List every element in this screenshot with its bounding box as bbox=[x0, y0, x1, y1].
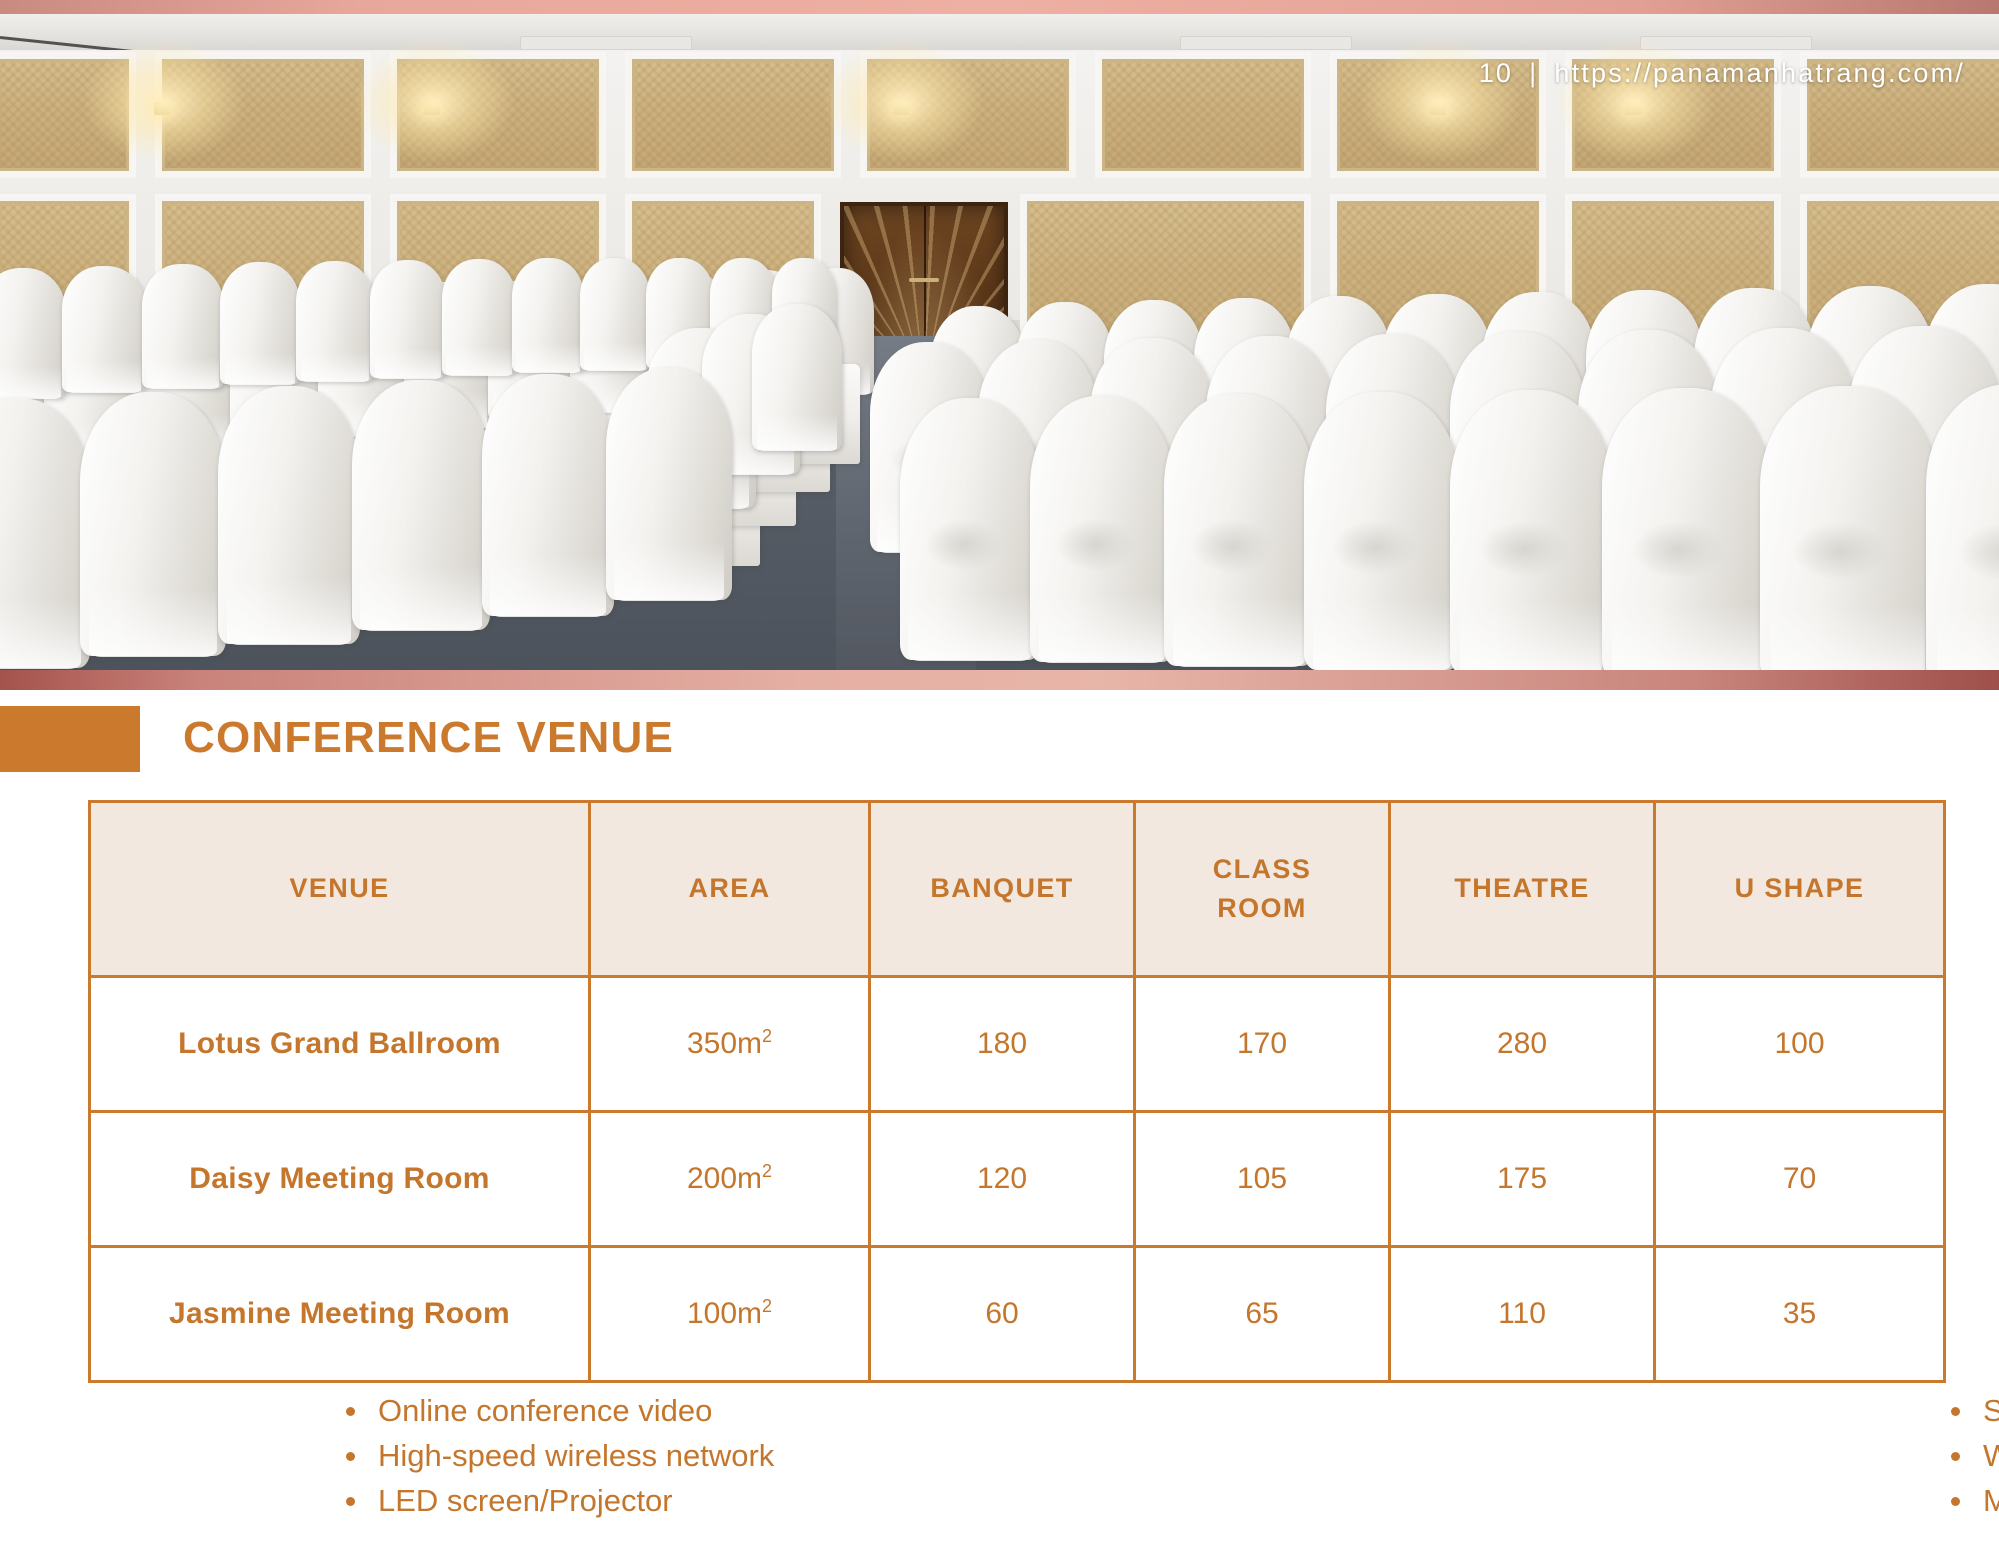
cell-venue-name: Daisy Meeting Room bbox=[90, 1112, 590, 1247]
wall-sconce bbox=[893, 102, 909, 115]
chair bbox=[900, 398, 1040, 660]
area-value: 350m bbox=[687, 1027, 762, 1060]
area-value: 100m bbox=[687, 1297, 762, 1330]
chair bbox=[442, 259, 516, 375]
chair bbox=[1602, 388, 1770, 678]
header-separator: | bbox=[1529, 58, 1538, 89]
ceiling-vent bbox=[1640, 36, 1812, 50]
cell-theatre: 110 bbox=[1390, 1247, 1655, 1382]
cell-u-shape: 70 bbox=[1655, 1112, 1945, 1247]
cell-banquet: 180 bbox=[870, 977, 1135, 1112]
table-header: VENUE AREA BANQUET CLASS ROOM THEATRE U … bbox=[90, 802, 1945, 977]
chair bbox=[606, 368, 732, 600]
area-exponent: 2 bbox=[762, 1296, 772, 1316]
column-header-area: AREA bbox=[590, 802, 870, 977]
chair bbox=[142, 264, 224, 388]
feature-label: Modern sound system bbox=[1983, 1483, 1999, 1518]
wall-sconce bbox=[1625, 102, 1641, 115]
chair bbox=[482, 374, 614, 616]
chair bbox=[0, 268, 66, 398]
wall-panel bbox=[860, 52, 1076, 178]
cell-area: 200m2 bbox=[590, 1112, 870, 1247]
list-item: High-speed wireless network bbox=[338, 1433, 963, 1478]
cell-class-room: 65 bbox=[1135, 1247, 1390, 1382]
ceiling-vent bbox=[1180, 36, 1352, 50]
cell-u-shape: 100 bbox=[1655, 977, 1945, 1112]
features-section: Online conference video High-speed wirel… bbox=[88, 1388, 1943, 1523]
list-item: Online conference video bbox=[338, 1388, 963, 1433]
cell-class-room: 105 bbox=[1135, 1112, 1390, 1247]
column-header-banquet: BANQUET bbox=[870, 802, 1135, 977]
chair bbox=[62, 266, 146, 392]
features-left-column: Online conference video High-speed wirel… bbox=[88, 1388, 963, 1523]
venue-capacity-table: VENUE AREA BANQUET CLASS ROOM THEATRE U … bbox=[88, 800, 1946, 1383]
chair bbox=[1760, 386, 1936, 682]
chair bbox=[220, 262, 300, 384]
cell-area: 350m2 bbox=[590, 977, 870, 1112]
chair bbox=[80, 392, 226, 656]
chair bbox=[0, 398, 90, 668]
table-row: Lotus Grand Ballroom 350m2 180 170 280 1… bbox=[90, 977, 1945, 1112]
features-right-column: Stationery Wireless microphones Modern s… bbox=[963, 1388, 1943, 1523]
bullet-icon bbox=[1951, 1407, 1960, 1416]
top-accent-band bbox=[0, 0, 1999, 14]
column-header-venue: VENUE bbox=[90, 802, 590, 977]
cell-venue-name: Lotus Grand Ballroom bbox=[90, 977, 590, 1112]
feature-list-left: Online conference video High-speed wirel… bbox=[338, 1388, 963, 1523]
area-value: 200m bbox=[687, 1162, 762, 1195]
cell-area: 100m2 bbox=[590, 1247, 870, 1382]
page-number: 10 bbox=[1479, 58, 1513, 89]
column-header-u-shape: U SHAPE bbox=[1655, 802, 1945, 977]
conference-hall-photo bbox=[0, 6, 1999, 684]
bullet-icon bbox=[346, 1452, 355, 1461]
hero-photo-banner: 10 | https://panamanhatrang.com/ bbox=[0, 0, 1999, 690]
list-item: LED screen/Projector bbox=[338, 1478, 963, 1523]
bullet-icon bbox=[346, 1407, 355, 1416]
cell-venue-name: Jasmine Meeting Room bbox=[90, 1247, 590, 1382]
section-title-row: CONFERENCE VENUE bbox=[0, 706, 1999, 774]
cell-banquet: 120 bbox=[870, 1112, 1135, 1247]
table-row: Daisy Meeting Room 200m2 120 105 175 70 bbox=[90, 1112, 1945, 1247]
area-exponent: 2 bbox=[762, 1026, 772, 1046]
cell-banquet: 60 bbox=[870, 1247, 1135, 1382]
chair bbox=[752, 304, 842, 450]
table-body: Lotus Grand Ballroom 350m2 180 170 280 1… bbox=[90, 977, 1945, 1382]
list-item: Wireless microphones bbox=[1943, 1433, 1983, 1478]
cell-theatre: 280 bbox=[1390, 977, 1655, 1112]
bullet-icon bbox=[1951, 1452, 1960, 1461]
chair bbox=[352, 380, 490, 630]
title-accent-block bbox=[0, 706, 140, 772]
feature-label: Wireless microphones bbox=[1983, 1438, 1999, 1473]
website-url[interactable]: https://panamanhatrang.com/ bbox=[1554, 58, 1965, 89]
chair bbox=[218, 386, 360, 644]
door-handle bbox=[909, 278, 939, 282]
feature-label: Online conference video bbox=[378, 1393, 712, 1428]
chair bbox=[1164, 394, 1314, 666]
wall-sconce bbox=[1430, 102, 1446, 115]
wall-panel bbox=[0, 52, 136, 178]
chair bbox=[370, 260, 446, 378]
wall-panel bbox=[625, 52, 841, 178]
area-exponent: 2 bbox=[762, 1161, 772, 1181]
wall-panel bbox=[390, 52, 606, 178]
ceiling-vent bbox=[520, 36, 692, 50]
chair bbox=[296, 261, 374, 381]
feature-label: Stationery bbox=[1983, 1393, 1999, 1428]
page-title: CONFERENCE VENUE bbox=[183, 706, 674, 770]
wall-sconce bbox=[154, 102, 170, 115]
column-header-class-room: CLASS ROOM bbox=[1135, 802, 1390, 977]
table-row: Jasmine Meeting Room 100m2 60 65 110 35 bbox=[90, 1247, 1945, 1382]
feature-label: LED screen/Projector bbox=[378, 1483, 673, 1518]
chair bbox=[512, 258, 584, 372]
chair bbox=[580, 258, 650, 370]
column-header-theatre: THEATRE bbox=[1390, 802, 1655, 977]
class-room-line2: ROOM bbox=[1217, 893, 1307, 923]
bottom-accent-band bbox=[0, 670, 1999, 690]
wall-sconce bbox=[424, 102, 440, 115]
cell-u-shape: 35 bbox=[1655, 1247, 1945, 1382]
cell-class-room: 170 bbox=[1135, 977, 1390, 1112]
cell-theatre: 175 bbox=[1390, 1112, 1655, 1247]
list-item: Stationery bbox=[1943, 1388, 1983, 1433]
page-header-info: 10 | https://panamanhatrang.com/ bbox=[1479, 58, 1965, 89]
wall-panel bbox=[155, 52, 371, 178]
bullet-icon bbox=[346, 1497, 355, 1506]
bullet-icon bbox=[1951, 1497, 1960, 1506]
chair bbox=[1030, 396, 1174, 662]
table-header-row: VENUE AREA BANQUET CLASS ROOM THEATRE U … bbox=[90, 802, 1945, 977]
chair bbox=[1450, 390, 1612, 674]
wall-panel bbox=[1095, 52, 1311, 178]
class-room-line1: CLASS bbox=[1213, 854, 1312, 884]
chair bbox=[1304, 392, 1460, 670]
feature-label: High-speed wireless network bbox=[378, 1438, 774, 1473]
list-item: Modern sound system bbox=[1943, 1478, 1983, 1523]
